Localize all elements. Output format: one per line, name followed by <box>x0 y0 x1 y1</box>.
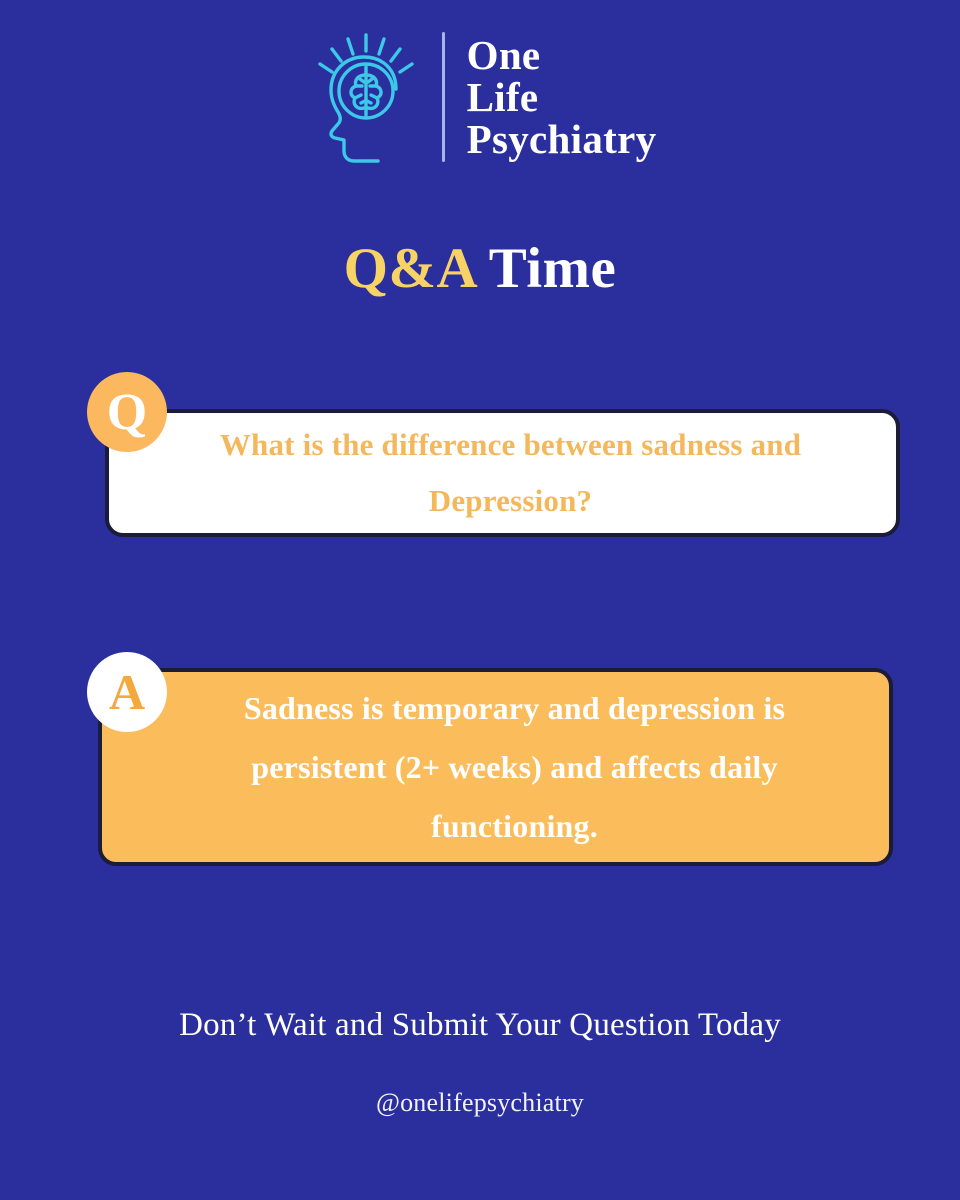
answer-block: Sadness is temporary and depression is p… <box>98 668 893 866</box>
question-block: What is the difference between sadness a… <box>105 409 900 537</box>
page-title: Q&A Time <box>0 236 960 302</box>
brand-logo-block: One Life Psychiatry <box>0 22 960 172</box>
question-badge: Q <box>87 372 167 452</box>
answer-card: Sadness is temporary and depression is p… <box>98 668 893 866</box>
head-brain-idea-icon <box>304 31 428 163</box>
logo-divider <box>442 32 445 162</box>
logo-line-life: Life <box>467 76 657 118</box>
answer-badge: A <box>87 652 167 732</box>
footer-cta-text: Don’t Wait and Submit Your Question Toda… <box>0 1003 960 1047</box>
logo-wordmark: One Life Psychiatry <box>467 34 657 160</box>
question-text: What is the difference between sadness a… <box>183 417 838 529</box>
logo-line-psychiatry: Psychiatry <box>467 118 657 160</box>
logo-line-one: One <box>467 34 657 76</box>
answer-text: Sadness is temporary and depression is p… <box>184 679 845 856</box>
footer-social-handle: @onelifepsychiatry <box>0 1085 960 1121</box>
page-title-plain: Time <box>475 237 616 300</box>
question-card: What is the difference between sadness a… <box>105 409 900 537</box>
page-title-accent: Q&A <box>344 237 475 300</box>
